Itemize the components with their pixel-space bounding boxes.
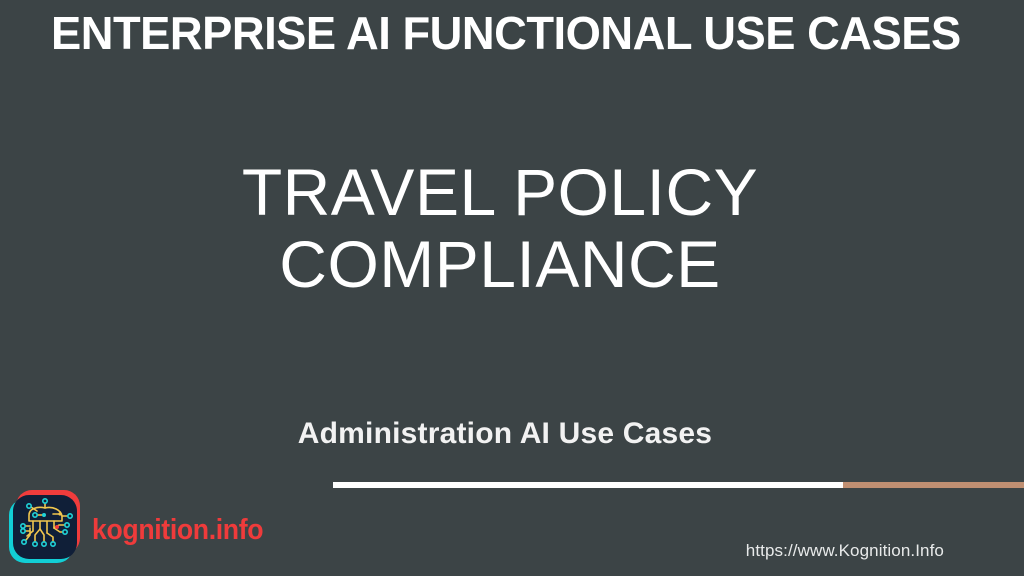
circuit-brain-glyph: [13, 495, 77, 559]
divider-rule: [333, 482, 1024, 488]
divider-primary-segment: [333, 482, 843, 488]
slide-title-line-1: TRAVEL POLICY: [0, 156, 1000, 228]
brand-wordmark: kognition.info: [92, 514, 263, 547]
slide-title-line-2: COMPLIANCE: [0, 228, 1000, 300]
slide-subtitle: Administration AI Use Cases: [0, 415, 1010, 453]
presentation-slide: ENTERPRISE AI FUNCTIONAL USE CASES TRAVE…: [0, 0, 1024, 576]
circuit-brain-icon: [8, 493, 82, 567]
slide-title: TRAVEL POLICY COMPLIANCE: [0, 156, 1000, 300]
logo-tile: [13, 495, 77, 559]
slide-eyebrow-heading: ENTERPRISE AI FUNCTIONAL USE CASES: [38, 8, 974, 58]
divider-accent-segment: [843, 482, 1024, 488]
brand-lockup: kognition.info: [8, 490, 278, 570]
footer-url: https://www.Kognition.Info: [746, 541, 944, 561]
